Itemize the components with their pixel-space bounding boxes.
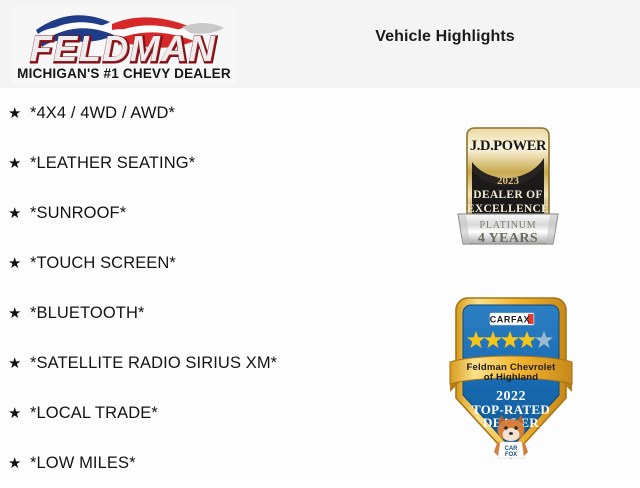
jd-power-brand-text: J.D.POWER <box>470 138 547 154</box>
jd-power-award-line1: DEALER OF <box>473 189 542 201</box>
svg-text:FELDMAN: FELDMAN <box>30 28 216 69</box>
list-item: ★ *LEATHER SEATING* <box>0 138 420 188</box>
list-item: ★ *SUNROOF* <box>0 188 420 238</box>
list-item: ★ *BLUETOOTH* <box>0 288 420 338</box>
list-item-label: *LEATHER SEATING* <box>30 154 195 173</box>
page-title: Vehicle Highlights <box>300 28 590 46</box>
list-item: ★ *LOW MILES* <box>0 438 420 488</box>
star-bullet-icon: ★ <box>8 256 30 271</box>
star-bullet-icon: ★ <box>8 206 30 221</box>
carfax-top-rated-dealer-badge: CARFAX Feldman Chevrolet of Highland 202… <box>446 290 576 471</box>
feldman-dealer-logo: FELDMAN FELDMAN MICHIGAN'S #1 CHEVY DEAL… <box>12 6 236 84</box>
carfax-dealer-name-line2: of Highland <box>484 372 538 383</box>
jd-power-year-text: 2023 <box>497 175 520 187</box>
page-header: FELDMAN FELDMAN MICHIGAN'S #1 CHEVY DEAL… <box>0 0 640 88</box>
star-bullet-icon: ★ <box>8 356 30 371</box>
carfax-badge-graphic: CARFAX Feldman Chevrolet of Highland 202… <box>446 290 576 466</box>
carfax-mascot-shirt-line2: FOX <box>505 452 517 458</box>
star-bullet-icon: ★ <box>8 106 30 121</box>
list-item: ★ *SATELLITE RADIO SIRIUS XM* <box>0 338 420 388</box>
list-item: ★ *4X4 / 4WD / AWD* <box>0 88 420 138</box>
logo-tagline-text: MICHIGAN'S #1 CHEVY DEALER <box>17 66 231 81</box>
list-item-label: *BLUETOOTH* <box>30 304 145 323</box>
jd-power-tier-text: PLATINUM <box>480 220 537 231</box>
list-item-label: *LOCAL TRADE* <box>30 404 158 423</box>
jd-power-award-line2: EXCELLENCE <box>467 203 549 215</box>
star-bullet-icon: ★ <box>8 306 30 321</box>
list-item-label: *LOW MILES* <box>30 454 136 473</box>
carfax-brand-text: CARFAX <box>490 314 531 324</box>
jd-power-badge-graphic: J.D.POWER 2023 DEALER OF EXCELLENCE PLAT… <box>452 122 564 250</box>
award-badges-column: J.D.POWER 2023 DEALER OF EXCELLENCE PLAT… <box>430 110 600 470</box>
star-bullet-icon: ★ <box>8 156 30 171</box>
list-item-label: *TOUCH SCREEN* <box>30 254 176 273</box>
list-item: ★ *TOUCH SCREEN* <box>0 238 420 288</box>
feldman-logo-graphic: FELDMAN FELDMAN MICHIGAN'S #1 CHEVY DEAL… <box>12 6 236 84</box>
vehicle-highlights-list: ★ *4X4 / 4WD / AWD* ★ *LEATHER SEATING* … <box>0 88 420 488</box>
list-item-label: *SUNROOF* <box>30 204 126 223</box>
list-item-label: *4X4 / 4WD / AWD* <box>30 104 175 123</box>
jd-power-duration-text: 4 YEARS <box>478 231 538 246</box>
list-item: ★ *LOCAL TRADE* <box>0 388 420 438</box>
star-bullet-icon: ★ <box>8 406 30 421</box>
feldman-wordmark: FELDMAN FELDMAN <box>30 28 217 70</box>
list-item-label: *SATELLITE RADIO SIRIUS XM* <box>30 354 277 373</box>
vehicle-highlights-page: FELDMAN FELDMAN MICHIGAN'S #1 CHEVY DEAL… <box>0 0 640 480</box>
jd-power-badge: J.D.POWER 2023 DEALER OF EXCELLENCE PLAT… <box>452 122 564 255</box>
star-bullet-icon: ★ <box>8 456 30 471</box>
